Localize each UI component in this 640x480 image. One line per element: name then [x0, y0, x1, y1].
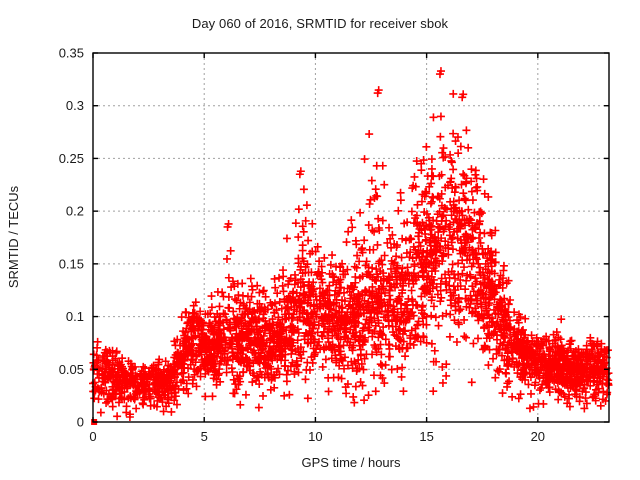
data-point-marker [242, 391, 250, 399]
data-point-marker [178, 313, 186, 321]
data-point-marker [343, 238, 351, 246]
data-point-marker [279, 282, 287, 290]
data-point-marker [283, 234, 291, 242]
data-point-marker [365, 130, 373, 138]
data-point-marker [227, 247, 235, 255]
data-point-marker [521, 315, 529, 323]
data-point-marker [219, 292, 227, 300]
data-point-marker [515, 394, 523, 402]
data-point-marker [506, 296, 514, 304]
data-point-marker [504, 362, 512, 370]
data-point-marker [236, 401, 244, 409]
data-points [89, 67, 612, 425]
data-point-marker [380, 181, 388, 189]
y-tick-label: 0.2 [66, 204, 84, 219]
data-point-marker [474, 334, 482, 342]
data-point-marker [370, 228, 378, 236]
x-tick-label: 5 [201, 429, 208, 444]
data-point-marker [462, 277, 470, 285]
data-point-marker [442, 372, 450, 380]
data-point-marker [239, 292, 247, 300]
data-point-marker [361, 155, 369, 163]
data-point-marker [279, 266, 287, 274]
data-point-marker [455, 196, 463, 204]
data-point-marker [397, 189, 405, 197]
data-point-marker [461, 195, 469, 203]
data-point-marker [385, 224, 393, 232]
data-point-marker [372, 387, 380, 395]
data-point-marker [208, 303, 216, 311]
data-point-marker [439, 144, 447, 152]
data-point-marker [342, 389, 350, 397]
data-point-marker [462, 334, 470, 342]
data-point-marker [446, 333, 454, 341]
data-point-marker [503, 379, 511, 387]
data-point-marker [377, 360, 385, 368]
data-point-marker [408, 287, 416, 295]
y-tick-label: 0.35 [59, 46, 84, 61]
data-point-marker [351, 263, 359, 271]
data-point-marker [446, 311, 454, 319]
data-point-marker [484, 361, 492, 369]
data-point-marker [432, 313, 440, 321]
data-point-marker [109, 403, 117, 411]
data-point-marker [422, 143, 430, 151]
data-point-marker [427, 312, 435, 320]
data-point-marker [255, 404, 263, 412]
chart-page: Day 060 of 2016, SRMTID for receiver sbo… [0, 0, 640, 480]
x-tick-label: 15 [419, 429, 433, 444]
data-point-marker [380, 379, 388, 387]
data-point-marker [294, 233, 302, 241]
data-point-marker [462, 179, 470, 187]
data-point-marker [460, 263, 468, 271]
data-point-marker [401, 352, 409, 360]
data-point-marker [398, 373, 406, 381]
data-point-marker [113, 347, 121, 355]
data-point-marker [167, 408, 175, 416]
data-point-marker [327, 261, 335, 269]
data-point-marker [253, 282, 261, 290]
data-point-marker [322, 355, 330, 363]
data-point-marker [428, 340, 436, 348]
data-point-marker [90, 394, 98, 402]
data-point-marker [208, 392, 216, 400]
data-point-marker [449, 165, 457, 173]
data-point-marker [259, 392, 267, 400]
data-point-marker [344, 228, 352, 236]
data-point-marker [379, 217, 387, 225]
data-point-marker [428, 155, 436, 163]
data-point-marker [505, 377, 513, 385]
x-tick-label: 0 [89, 429, 96, 444]
data-point-marker [429, 387, 437, 395]
data-point-marker [248, 378, 256, 386]
data-point-marker [373, 241, 381, 249]
data-point-marker [113, 412, 121, 420]
data-point-marker [97, 409, 105, 417]
data-point-marker [429, 113, 437, 121]
data-point-marker [300, 185, 308, 193]
data-point-marker [214, 288, 222, 296]
data-point-marker [306, 366, 314, 374]
data-point-marker [398, 235, 406, 243]
y-tick-label: 0.3 [66, 98, 84, 113]
x-axis-title: GPS time / hours [302, 455, 401, 470]
data-point-marker [437, 112, 445, 120]
data-point-marker [462, 126, 470, 134]
data-point-marker [449, 260, 457, 268]
data-point-marker [436, 133, 444, 141]
data-point-marker [132, 404, 140, 412]
data-point-marker [366, 200, 374, 208]
data-point-marker [231, 389, 239, 397]
data-point-marker [300, 228, 308, 236]
x-tick-label: 20 [531, 429, 545, 444]
data-point-marker [280, 392, 288, 400]
data-point-marker [285, 391, 293, 399]
data-point-marker [350, 399, 358, 407]
data-point-marker [360, 396, 368, 404]
data-point-marker [309, 359, 317, 367]
data-point-marker [480, 175, 488, 183]
data-point-marker [275, 274, 283, 282]
data-point-marker [398, 254, 406, 262]
data-point-marker [459, 189, 467, 197]
data-point-marker [304, 394, 312, 402]
data-point-marker [283, 377, 291, 385]
data-point-marker [347, 216, 355, 224]
data-point-marker [472, 166, 480, 174]
data-point-marker [271, 275, 279, 283]
data-point-marker [247, 274, 255, 282]
data-point-marker [392, 252, 400, 260]
data-point-marker [319, 332, 327, 340]
data-point-marker [499, 389, 507, 397]
data-point-marker [360, 236, 368, 244]
data-point-marker [469, 196, 477, 204]
data-point-marker [449, 90, 457, 98]
data-point-marker [360, 366, 368, 374]
data-point-marker [439, 379, 447, 387]
data-point-marker [410, 260, 418, 268]
y-tick-label: 0 [77, 415, 84, 430]
data-point-marker [398, 363, 406, 371]
data-point-marker [365, 391, 373, 399]
data-point-marker [508, 393, 516, 401]
data-point-marker [453, 338, 461, 346]
data-point-marker [348, 223, 356, 231]
data-point-marker [410, 173, 418, 181]
data-point-marker [527, 390, 535, 398]
data-point-marker [394, 207, 402, 215]
scatter-chart: 00.050.10.150.20.250.30.3505101520 GPS t… [0, 0, 640, 480]
data-point-marker [368, 177, 376, 185]
data-point-marker [379, 162, 387, 170]
data-point-marker [464, 144, 472, 152]
y-tick-label: 0.1 [66, 309, 84, 324]
data-point-marker [304, 237, 312, 245]
data-point-marker [295, 205, 303, 213]
data-point-marker [491, 374, 499, 382]
data-point-marker [399, 387, 407, 395]
data-point-marker [358, 244, 366, 252]
y-tick-label: 0.25 [59, 151, 84, 166]
data-point-marker [179, 369, 187, 377]
data-point-marker [201, 392, 209, 400]
data-point-marker [349, 393, 357, 401]
data-point-marker [435, 322, 443, 330]
data-point-marker [123, 402, 131, 410]
data-point-marker [301, 375, 309, 383]
data-point-marker [356, 209, 364, 217]
x-tick-label: 10 [308, 429, 322, 444]
data-point-marker [468, 378, 476, 386]
data-point-marker [468, 188, 476, 196]
data-point-marker [460, 332, 468, 340]
data-point-marker [603, 389, 611, 397]
data-point-marker [139, 363, 147, 371]
data-point-marker [517, 390, 525, 398]
data-point-marker [208, 292, 216, 300]
data-point-marker [223, 255, 231, 263]
data-point-marker [362, 350, 370, 358]
data-point-marker [467, 165, 475, 173]
data-point-marker [386, 353, 394, 361]
data-point-marker [328, 251, 336, 259]
y-axis-title: SRMTID / TECUs [6, 185, 21, 288]
data-point-marker [352, 383, 360, 391]
data-point-marker [216, 302, 224, 310]
y-tick-label: 0.15 [59, 256, 84, 271]
data-point-marker [449, 245, 457, 253]
data-point-marker [393, 365, 401, 373]
data-point-marker [469, 340, 477, 348]
y-tick-label: 0.05 [59, 362, 84, 377]
data-point-marker [431, 347, 439, 355]
data-point-marker [330, 374, 338, 382]
data-point-marker [299, 241, 307, 249]
data-point-marker [325, 387, 333, 395]
data-point-marker [374, 215, 382, 223]
data-point-marker [502, 369, 510, 377]
data-point-marker [428, 165, 436, 173]
data-point-marker [397, 196, 405, 204]
data-point-marker [279, 287, 287, 295]
data-point-marker [303, 201, 311, 209]
data-point-marker [292, 219, 300, 227]
data-point-marker [351, 273, 359, 281]
